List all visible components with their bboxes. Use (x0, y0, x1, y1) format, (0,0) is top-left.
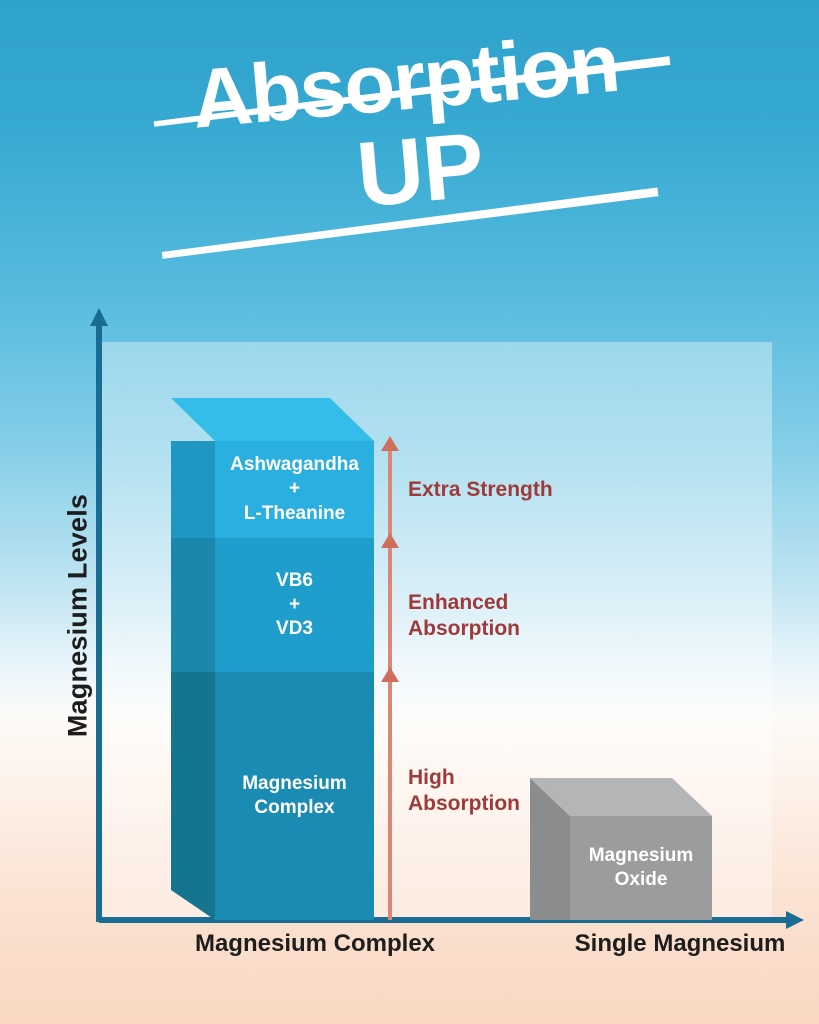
bar-segment-side-face (171, 441, 215, 538)
x-axis-arrow-icon (786, 911, 804, 929)
infographic-poster: Absorption UP Magnesium Levels Magnesium… (0, 0, 819, 1024)
bar-top-face (171, 398, 374, 441)
indicator-arrow-icon-mid (381, 533, 399, 548)
bar-segment-label: Ashwagandha+L-Theanine (230, 453, 359, 526)
bar-segment-front-face: Ashwagandha+L-Theanine (215, 441, 374, 538)
bar-magnesium-oxide: MagnesiumOxide (530, 778, 712, 920)
gray-box-front-face: MagnesiumOxide (570, 816, 712, 920)
indicator-label-high-absorption: HighAbsorption (408, 765, 520, 818)
bar-segment-label: VB6+VD3 (276, 569, 313, 642)
bar-segment-front-face: MagnesiumComplex (215, 672, 374, 920)
y-axis-arrow-icon (90, 308, 108, 326)
bar-magnesium-complex: MagnesiumComplex VB6+VD3 Ashwagandha+L-T… (171, 398, 374, 920)
bar-segment-front-face: VB6+VD3 (215, 538, 374, 672)
bar-segment-vb6-vd3: VB6+VD3 (171, 538, 374, 672)
indicator-arrow-icon-bottom (381, 667, 399, 682)
indicator-label-enhanced-absorption: EnhancedAbsorption (408, 590, 520, 643)
gray-box-label: MagnesiumOxide (589, 844, 694, 893)
bar-segment-label: MagnesiumComplex (242, 772, 347, 821)
bar-segment-magnesium-complex: MagnesiumComplex (171, 672, 374, 920)
y-axis-title: Magnesium Levels (63, 486, 94, 746)
bar-segment-ashwagandha-ltheanine: Ashwagandha+L-Theanine (171, 441, 374, 538)
bar-segment-side-face (171, 538, 215, 672)
y-axis-line (96, 322, 102, 922)
x-axis-label-single-magnesium: Single Magnesium (470, 930, 819, 958)
x-axis-label-magnesium-complex: Magnesium Complex (110, 930, 520, 958)
indicator-arrow-icon-top (381, 436, 399, 451)
bar-segment-side-face (171, 672, 215, 920)
bar-chart: Magnesium Levels MagnesiumComplex VB6+VD… (0, 0, 819, 1024)
indicator-label-extra-strength: Extra Strength (408, 477, 553, 503)
